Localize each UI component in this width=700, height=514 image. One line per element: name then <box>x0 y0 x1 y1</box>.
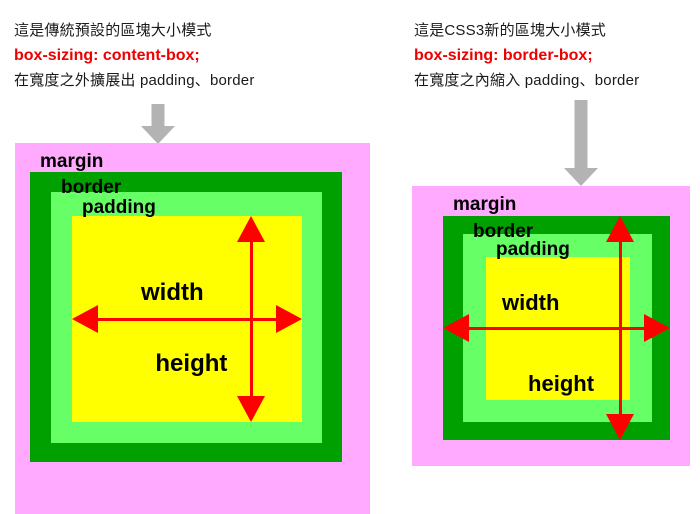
arrow-head-left <box>443 314 469 342</box>
height-label: height <box>528 373 594 395</box>
width-label: width <box>141 281 204 305</box>
width-label: width <box>502 292 559 314</box>
down-arrow-icon <box>138 104 178 144</box>
caption-content-box: 這是傳統預設的區塊大小模式 box-sizing: content-box; 在… <box>14 18 255 93</box>
arrow-head-left <box>72 305 98 333</box>
arrow-head-right <box>276 305 302 333</box>
arrow-head-up <box>606 216 634 242</box>
padding-label: padding <box>496 240 570 259</box>
width-measure-arrow <box>443 314 670 342</box>
arrow-head-down <box>606 414 634 440</box>
margin-label: margin <box>40 152 103 171</box>
caption-border-box: 這是CSS3新的區塊大小模式 box-sizing: border-box; 在… <box>414 18 639 93</box>
caption-code-declaration: box-sizing: border-box; <box>414 43 639 68</box>
caption-line-3: 在寬度之外擴展出 padding、border <box>14 68 255 93</box>
caption-code-declaration: box-sizing: content-box; <box>14 43 255 68</box>
arrow-head <box>564 168 598 186</box>
measure-line <box>250 242 253 396</box>
measure-line <box>619 242 622 414</box>
arrow-shaft <box>575 100 588 170</box>
arrow-head-down <box>237 396 265 422</box>
padding-label: padding <box>82 198 156 217</box>
arrow-head-up <box>237 216 265 242</box>
caption-line-1: 這是CSS3新的區塊大小模式 <box>414 18 639 43</box>
height-measure-arrow <box>606 216 634 440</box>
caption-line-1: 這是傳統預設的區塊大小模式 <box>14 18 255 43</box>
down-arrow-icon <box>561 100 601 188</box>
arrow-shaft <box>152 104 165 128</box>
width-measure-arrow <box>72 305 302 333</box>
border-label: border <box>61 178 121 197</box>
height-measure-arrow <box>237 216 265 422</box>
height-label: height <box>155 352 227 376</box>
margin-label: margin <box>453 195 516 214</box>
arrow-head-right <box>644 314 670 342</box>
caption-line-3: 在寬度之內縮入 padding、border <box>414 68 639 93</box>
arrow-head <box>141 126 175 144</box>
